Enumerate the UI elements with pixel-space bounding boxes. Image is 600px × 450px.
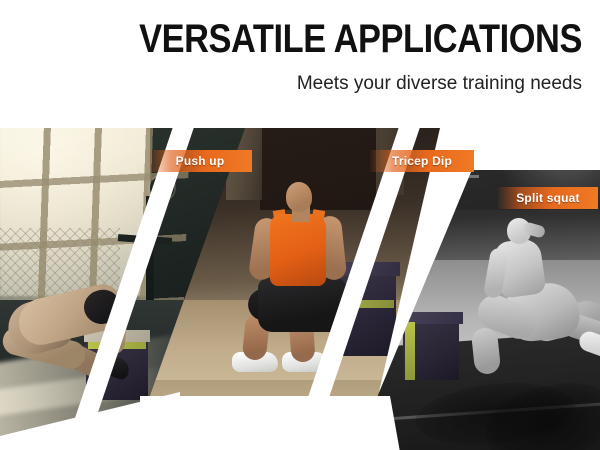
label-push-up: Push up	[148, 150, 252, 172]
athlete-tank-top	[270, 214, 326, 286]
promo-banner: VERSATILE APPLICATIONS Meets your divers…	[0, 0, 600, 450]
athlete-head	[286, 182, 312, 212]
page-subtitle: Meets your diverse training needs	[297, 72, 582, 96]
label-split-squat: Split squat	[498, 187, 598, 209]
page-title: VERSATILE APPLICATIONS	[139, 16, 582, 62]
bottom-mid-bevel-mask	[140, 394, 400, 450]
label-tricep-dip: Tricep Dip	[370, 150, 474, 172]
plyo-box-strip	[405, 322, 415, 380]
header: VERSATILE APPLICATIONS Meets your divers…	[0, 0, 600, 126]
